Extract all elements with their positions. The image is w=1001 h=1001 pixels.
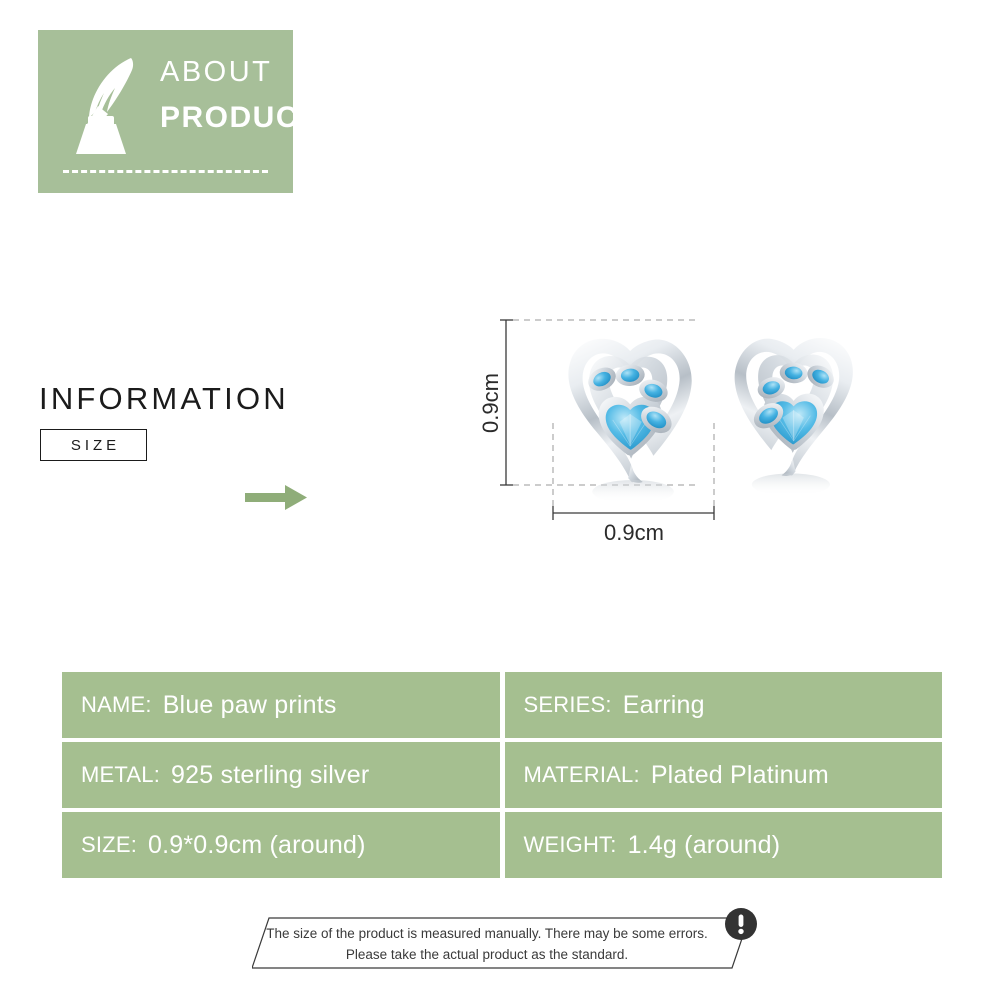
spec-row-metal: METAL: 925 sterling silver — [62, 742, 500, 808]
height-dimension-label: 0.9cm — [480, 373, 503, 433]
information-heading: INFORMATION — [39, 381, 289, 417]
spec-value-weight: 1.4g (around) — [628, 831, 781, 860]
exclamation-badge-icon — [724, 907, 758, 941]
quill-inkwell-icon — [68, 52, 148, 160]
spec-key-weight: WEIGHT: — [524, 832, 617, 858]
spec-key-name: NAME: — [81, 692, 152, 718]
spec-key-material: MATERIAL: — [524, 762, 640, 788]
about-title-line1: ABOUT — [160, 58, 319, 87]
size-badge: SIZE — [40, 429, 147, 461]
size-badge-label: SIZE — [67, 437, 120, 454]
spec-value-series: Earring — [623, 691, 705, 720]
spec-row-name: NAME: Blue paw prints — [62, 672, 500, 738]
earring-left — [568, 339, 691, 504]
width-dimension-label: 0.9cm — [604, 520, 664, 545]
spec-key-size: SIZE: — [81, 832, 137, 858]
spec-row-series: SERIES: Earring — [505, 672, 943, 738]
disclaimer-line2: Please take the actual product as the st… — [252, 945, 722, 966]
spec-row-weight: WEIGHT: 1.4g (around) — [505, 812, 943, 878]
earring-right — [735, 338, 853, 496]
spec-value-material: Plated Platinum — [651, 761, 829, 790]
dashed-divider — [63, 170, 268, 173]
product-spec-table: NAME: Blue paw prints SERIES: Earring ME… — [62, 672, 942, 878]
spec-row-material: MATERIAL: Plated Platinum — [505, 742, 943, 808]
product-size-diagram: 0.9cm 0.9cm — [480, 305, 940, 560]
spec-value-metal: 925 sterling silver — [171, 761, 369, 790]
disclaimer-text: The size of the product is measured manu… — [252, 924, 722, 966]
spec-value-size: 0.9*0.9cm (around) — [148, 831, 366, 860]
spec-key-metal: METAL: — [81, 762, 160, 788]
disclaimer-line1: The size of the product is measured manu… — [252, 924, 722, 945]
disclaimer-ribbon: The size of the product is measured manu… — [252, 912, 749, 974]
about-product-banner: ABOUT PRODUCT — [38, 30, 293, 193]
arrow-right-icon — [245, 485, 307, 510]
spec-value-name: Blue paw prints — [163, 691, 337, 720]
spec-row-size: SIZE: 0.9*0.9cm (around) — [62, 812, 500, 878]
spec-key-series: SERIES: — [524, 692, 612, 718]
about-title-line2: PRODUCT — [160, 103, 319, 133]
about-product-text: ABOUT PRODUCT — [160, 58, 319, 133]
